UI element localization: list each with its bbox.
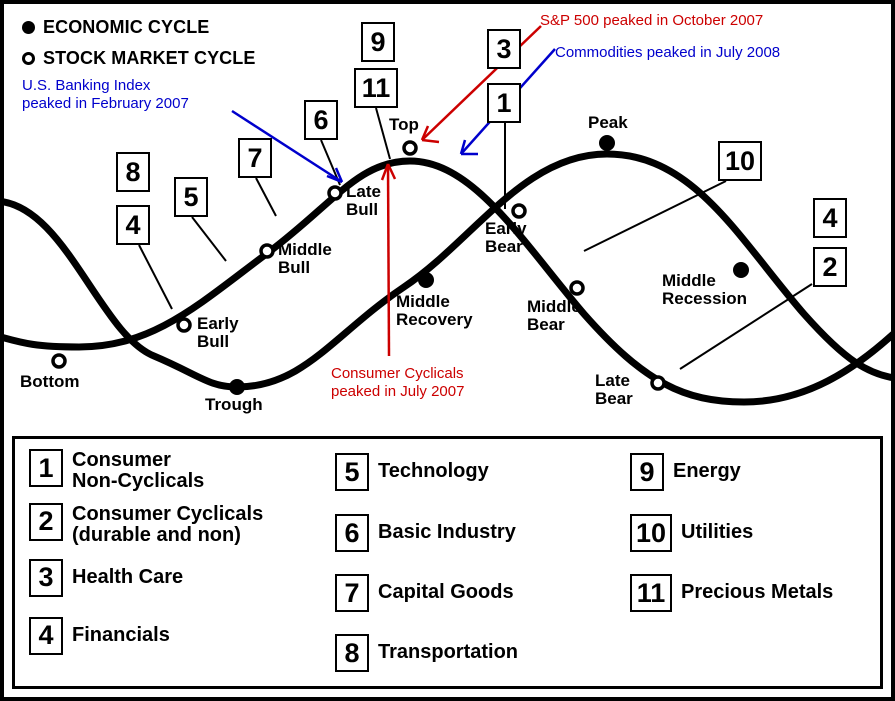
point-marker-late-bull [329, 187, 341, 199]
legend-number-7: 7 [335, 574, 369, 612]
legend-label-9: Energy [673, 453, 741, 482]
legend-item-1[interactable]: 1 Consumer Non-Cyclicals [29, 449, 329, 493]
consumer-cyclicals-arrow [382, 164, 395, 356]
legend-item-7[interactable]: 7 Capital Goods [335, 574, 625, 612]
chart-number-2-right[interactable]: 2 [813, 247, 847, 287]
point-label-peak: Peak [588, 114, 628, 132]
chart-number-1[interactable]: 1 [487, 83, 521, 123]
legend-label-5: Technology [378, 453, 489, 482]
legend-key-label: ECONOMIC CYCLE [43, 17, 209, 38]
legend-label-10: Utilities [681, 514, 753, 543]
leader-line-10 [584, 181, 726, 251]
legend-label-2: Consumer Cyclicals (durable and non) [72, 503, 263, 547]
legend-label-8: Transportation [378, 634, 518, 663]
chart-number-8[interactable]: 8 [116, 152, 150, 192]
point-marker-early-bull [178, 319, 190, 331]
point-marker-middle-bull [261, 245, 273, 257]
chart-number-3[interactable]: 3 [487, 29, 521, 69]
point-label-middle-bull: Middle Bull [278, 241, 332, 276]
legend-number-5: 5 [335, 453, 369, 491]
point-label-trough: Trough [205, 396, 263, 414]
legend-column-3: 9 Energy 10 Utilities 11 Precious Metals [630, 449, 880, 616]
legend-item-3[interactable]: 3 Health Care [29, 559, 329, 597]
chart-number-4-right[interactable]: 4 [813, 198, 847, 238]
legend-key-stock-market-cycle: STOCK MARKET CYCLE [22, 48, 255, 69]
legend-item-11[interactable]: 11 Precious Metals [630, 574, 880, 612]
cycle-chart-panel: ECONOMIC CYCLE STOCK MARKET CYCLE U.S. B… [4, 4, 891, 427]
point-marker-top [404, 142, 416, 154]
point-label-middle-recovery: Middle Recovery [396, 293, 473, 328]
legend-number-6: 6 [335, 514, 369, 552]
filled-circle-icon [22, 21, 35, 34]
legend-item-9[interactable]: 9 Energy [630, 453, 880, 491]
legend-column-1: 1 Consumer Non-Cyclicals 2 Consumer Cycl… [29, 449, 329, 659]
annotation-commodities: Commodities peaked in July 2008 [555, 44, 780, 62]
legend-item-2[interactable]: 2 Consumer Cyclicals (durable and non) [29, 503, 329, 547]
legend-label-3: Health Care [72, 559, 183, 588]
legend-label-1: Consumer Non-Cyclicals [72, 449, 204, 493]
legend-key-label: STOCK MARKET CYCLE [43, 48, 255, 69]
legend-label-11: Precious Metals [681, 574, 833, 603]
annotation-sp500: S&P 500 peaked in October 2007 [540, 12, 763, 30]
legend-number-1: 1 [29, 449, 63, 487]
point-label-late-bear: Late Bear [595, 372, 633, 407]
chart-number-6[interactable]: 6 [304, 100, 338, 140]
legend-item-10[interactable]: 10 Utilities [630, 514, 880, 552]
point-label-late-bull: Late Bull [346, 183, 381, 218]
point-marker-early-bear [513, 205, 525, 217]
point-marker-peak [599, 135, 615, 151]
chart-number-4-left[interactable]: 4 [116, 205, 150, 245]
chart-number-9[interactable]: 9 [361, 22, 395, 62]
leader-line-5 [192, 217, 226, 261]
point-marker-trough [229, 379, 245, 395]
legend-key-economic-cycle: ECONOMIC CYCLE [22, 17, 209, 38]
legend-number-2: 2 [29, 503, 63, 541]
chart-number-5[interactable]: 5 [174, 177, 208, 217]
legend-number-8: 8 [335, 634, 369, 672]
legend-item-6[interactable]: 6 Basic Industry [335, 514, 625, 552]
point-marker-middle-recovery [418, 272, 434, 288]
open-circle-icon [22, 52, 35, 65]
point-marker-bottom [53, 355, 65, 367]
annotation-consumer-cyclicals: Consumer Cyclicals peaked in July 2007 [331, 365, 464, 400]
point-label-middle-bear: Middle Bear [527, 298, 581, 333]
point-label-top: Top [389, 116, 419, 134]
cycle-diagram-page: ECONOMIC CYCLE STOCK MARKET CYCLE U.S. B… [0, 0, 895, 701]
legend-item-4[interactable]: 4 Financials [29, 617, 329, 655]
point-label-middle-recession: Middle Recession [662, 272, 747, 307]
legend-item-5[interactable]: 5 Technology [335, 453, 625, 491]
point-label-early-bull: Early Bull [197, 315, 239, 350]
legend-number-10: 10 [630, 514, 672, 552]
leader-line-7 [256, 178, 276, 216]
legend-label-4: Financials [72, 617, 170, 646]
point-label-early-bear: Early Bear [485, 220, 527, 255]
chart-number-7[interactable]: 7 [238, 138, 272, 178]
legend-number-9: 9 [630, 453, 664, 491]
point-marker-late-bear [652, 377, 664, 389]
legend-column-2: 5 Technology 6 Basic Industry 7 Capital … [335, 449, 625, 676]
legend-label-7: Capital Goods [378, 574, 514, 603]
chart-number-10[interactable]: 10 [718, 141, 762, 181]
legend-number-3: 3 [29, 559, 63, 597]
point-label-bottom: Bottom [20, 373, 79, 391]
legend-item-8[interactable]: 8 Transportation [335, 634, 625, 672]
sector-legend-panel: 1 Consumer Non-Cyclicals 2 Consumer Cycl… [12, 436, 883, 689]
legend-label-6: Basic Industry [378, 514, 516, 543]
leader-line-11 [376, 108, 390, 159]
point-marker-middle-bear [571, 282, 583, 294]
chart-number-11[interactable]: 11 [354, 68, 398, 108]
annotation-banking-index: U.S. Banking Index peaked in February 20… [22, 77, 189, 112]
legend-number-11: 11 [630, 574, 672, 612]
leader-line-4-left [139, 245, 172, 309]
legend-number-4: 4 [29, 617, 63, 655]
